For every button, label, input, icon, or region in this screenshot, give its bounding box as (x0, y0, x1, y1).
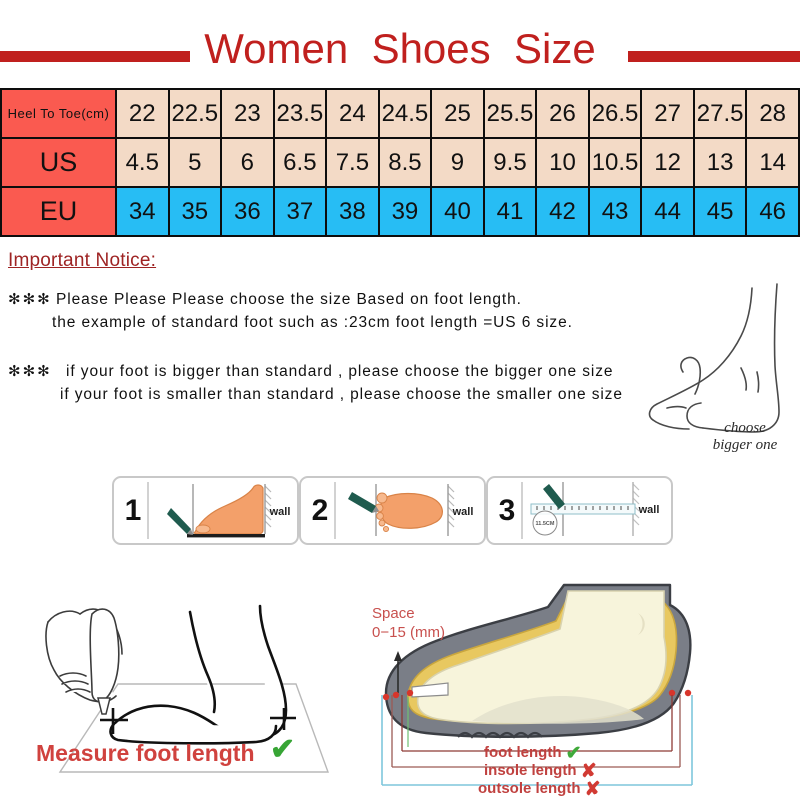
cell-heel-10: 27 (641, 89, 694, 138)
ruler-measure-icon: 11.5CM wall (523, 478, 671, 543)
table-row-heel-to-toe: Heel To Toe(cm) 22 22.5 23 23.5 24 24.5 … (1, 89, 799, 138)
cell-heel-5: 24.5 (379, 89, 432, 138)
asterisk-icon: ✻✻✻ (8, 363, 52, 380)
svg-text:wall: wall (452, 506, 474, 518)
page-title-bar: Women Shoes Size (0, 18, 800, 80)
cell-us-10: 12 (641, 138, 694, 187)
foot-side-view-icon: wall (149, 478, 297, 543)
cell-eu-5: 39 (379, 187, 432, 236)
choose-bigger-line1: choose (690, 420, 800, 437)
space-gap-label: Space 0−15 (mm) (372, 604, 445, 642)
cell-us-0: 4.5 (116, 138, 169, 187)
green-check-icon: ✔ (270, 735, 295, 765)
cell-heel-11: 27.5 (694, 89, 747, 138)
outsole-length-text: outsole length (478, 780, 581, 797)
notice-b2-line1: if your foot is bigger than standard , p… (56, 363, 613, 380)
row-label-eu: EU (1, 187, 116, 236)
notice-title: Important Notice: (8, 250, 698, 272)
cell-us-5: 8.5 (379, 138, 432, 187)
cell-us-9: 10.5 (589, 138, 642, 187)
measure-step-2: 2 wall (299, 476, 486, 545)
cell-heel-9: 26.5 (589, 89, 642, 138)
size-chart-table: Heel To Toe(cm) 22 22.5 23 23.5 24 24.5 … (0, 88, 800, 237)
cell-eu-9: 43 (589, 187, 642, 236)
table-row-eu: EU 34 35 36 37 38 39 40 41 42 43 44 45 4… (1, 187, 799, 236)
important-notice-block: Important Notice: ✻✻✻ Please Please Plea… (8, 250, 698, 406)
cell-us-6: 9 (431, 138, 484, 187)
measure-step-3: 3 11.5CM wall (486, 476, 673, 545)
measure-step-1: 1 wall (112, 476, 299, 545)
cell-heel-1: 22.5 (169, 89, 222, 138)
cell-heel-0: 22 (116, 89, 169, 138)
cell-us-3: 6.5 (274, 138, 327, 187)
page-title: Women Shoes Size (0, 18, 800, 80)
cell-heel-4: 24 (326, 89, 379, 138)
insole-length-text: insole length (484, 762, 577, 779)
cell-us-11: 13 (694, 138, 747, 187)
row-label-heel-to-toe: Heel To Toe(cm) (1, 89, 116, 138)
foot-length-text: foot length (484, 744, 561, 761)
notice-b2-line2: if your foot is smaller than standard , … (8, 383, 698, 406)
asterisk-icon: ✻✻✻ (8, 291, 52, 308)
cell-eu-2: 36 (221, 187, 274, 236)
notice-bullet-2: ✻✻✻ if your foot is bigger than standard… (8, 360, 698, 406)
cell-us-4: 7.5 (326, 138, 379, 187)
step-number: 1 (120, 494, 146, 528)
row-label-us: US (1, 138, 116, 187)
cell-us-8: 10 (536, 138, 589, 187)
cell-us-7: 9.5 (484, 138, 537, 187)
cell-eu-3: 37 (274, 187, 327, 236)
cell-us-2: 6 (221, 138, 274, 187)
step-number: 2 (307, 494, 333, 528)
foot-top-view-icon: wall (336, 478, 484, 543)
step-number: 3 (494, 494, 520, 528)
cell-eu-0: 34 (116, 187, 169, 236)
ruler-reading-label: 11.5CM (536, 521, 555, 527)
cell-eu-10: 44 (641, 187, 694, 236)
cell-eu-8: 42 (536, 187, 589, 236)
outsole-length-label: outsole length ✘ (478, 778, 601, 801)
notice-bullet-1: ✻✻✻ Please Please Please choose the size… (8, 288, 698, 334)
table-row-us: US 4.5 5 6 6.5 7.5 8.5 9 9.5 10 10.5 12 … (1, 138, 799, 187)
cell-heel-12: 28 (746, 89, 799, 138)
cell-heel-2: 23 (221, 89, 274, 138)
notice-b1-line1: Please Please Please choose the size Bas… (56, 291, 522, 308)
cell-eu-12: 46 (746, 187, 799, 236)
measure-foot-length-label: Measure foot length (36, 740, 255, 767)
cell-eu-6: 40 (431, 187, 484, 236)
cell-heel-3: 23.5 (274, 89, 327, 138)
cell-eu-1: 35 (169, 187, 222, 236)
svg-text:wall: wall (269, 506, 291, 518)
red-cross-icon: ✘ (585, 779, 601, 800)
cell-us-1: 5 (169, 138, 222, 187)
choose-bigger-caption: choose bigger one (690, 420, 800, 454)
cell-eu-11: 45 (694, 187, 747, 236)
svg-text:wall: wall (638, 504, 660, 516)
choose-bigger-line2: bigger one (690, 437, 800, 454)
cell-heel-6: 25 (431, 89, 484, 138)
notice-b1-line2: the example of standard foot such as :23… (8, 311, 698, 334)
cell-us-12: 14 (746, 138, 799, 187)
cell-heel-7: 25.5 (484, 89, 537, 138)
cell-eu-7: 41 (484, 187, 537, 236)
cell-heel-8: 26 (536, 89, 589, 138)
cell-eu-4: 38 (326, 187, 379, 236)
